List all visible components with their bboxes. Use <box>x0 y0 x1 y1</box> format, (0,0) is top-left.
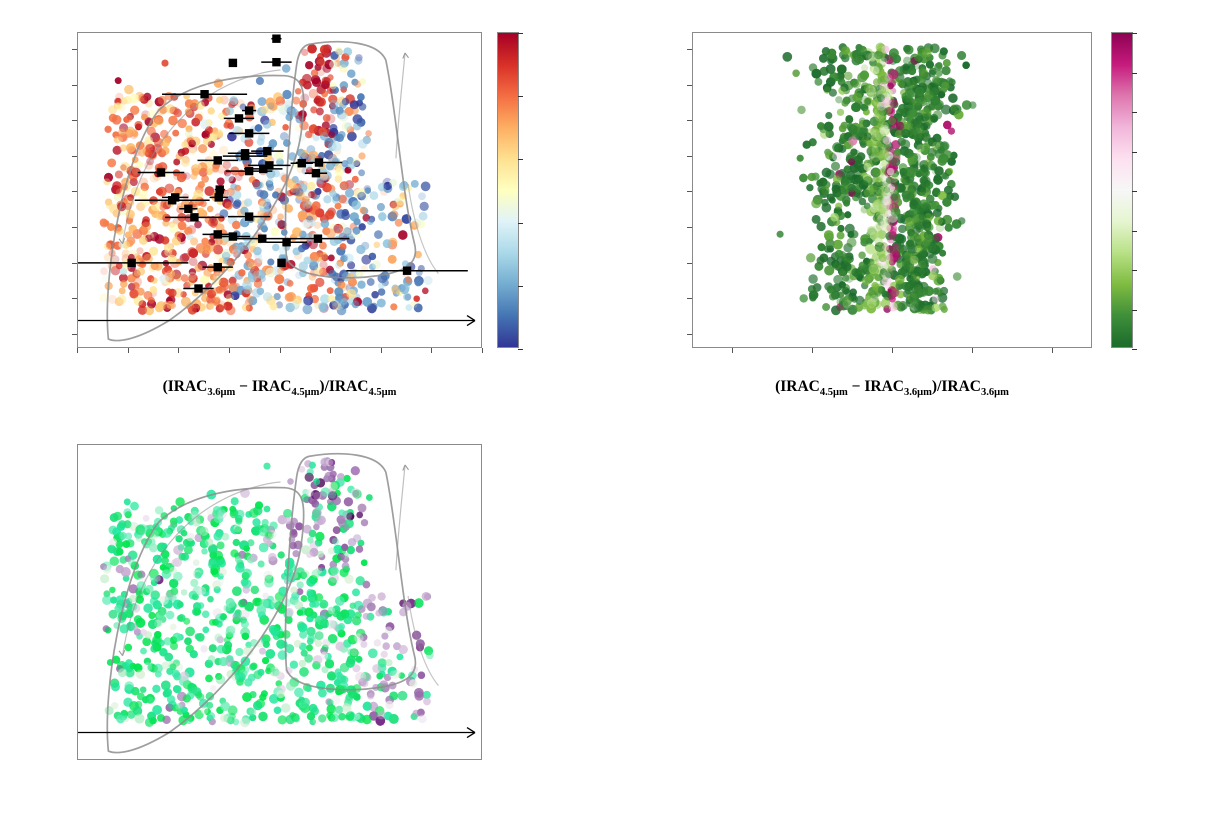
xtick-2 <box>178 348 179 353</box>
xtick-5 <box>330 348 331 353</box>
observation-marker <box>184 205 192 213</box>
scatter-layer-transmission_logg <box>693 33 1092 348</box>
observation-marker <box>235 114 243 122</box>
observation-marker <box>259 165 267 173</box>
observation-marker <box>277 259 285 267</box>
observation-marker <box>127 259 135 267</box>
colorbar-tick-5 <box>1132 152 1137 153</box>
panel-emission_feh <box>77 444 482 760</box>
observation-marker <box>263 147 271 155</box>
scatter-layer-emission_feh <box>78 445 482 760</box>
xtick-1 <box>812 348 813 353</box>
ytick-7 <box>687 85 692 86</box>
xtick-8 <box>482 348 483 353</box>
xtick-3 <box>229 348 230 353</box>
colorbar-tick-4 <box>1132 191 1137 192</box>
ytick-8 <box>72 49 77 50</box>
gj3470b-arrow <box>78 728 475 738</box>
observation-marker <box>214 156 222 164</box>
observation-marker <box>229 232 237 240</box>
colorbar-tick-6 <box>1132 112 1137 113</box>
observation-marker <box>215 193 223 201</box>
observation-marker <box>200 90 208 98</box>
observation-marker <box>403 267 411 275</box>
observation-marker <box>245 106 253 114</box>
observation-marker <box>245 212 253 220</box>
colorbar-tick-8 <box>1132 33 1137 34</box>
observation-marker <box>315 158 323 166</box>
figure-root: (IRAC3.6μm − IRAC4.5μm)/IRAC4.5μm(IRAC4.… <box>0 0 1211 825</box>
observation-marker <box>272 58 280 66</box>
ytick-6 <box>72 120 77 121</box>
observation-marker <box>258 234 266 242</box>
panel-emission_co: (IRAC3.6μm − IRAC4.5μm)/IRAC4.5μm <box>77 32 482 348</box>
ytick-5 <box>72 156 77 157</box>
ytick-1 <box>72 298 77 299</box>
colorbar-tick-4 <box>518 96 523 97</box>
observation-marker <box>216 185 224 193</box>
ytick-2 <box>72 263 77 264</box>
ytick-4 <box>687 191 692 192</box>
observation-marker <box>214 230 222 238</box>
observation-marker <box>168 196 176 204</box>
plot-frame-emission_co <box>77 32 482 348</box>
ytick-0 <box>72 334 77 335</box>
colorbar-tick-0 <box>1132 349 1137 350</box>
plot-frame-emission_feh <box>77 444 482 760</box>
observation-marker <box>312 169 320 177</box>
x-axis-label-emission_co: (IRAC3.6μm − IRAC4.5μm)/IRAC4.5μm <box>77 378 482 398</box>
colorbar-tick-2 <box>518 223 523 224</box>
observation-marker <box>245 167 253 175</box>
xtick-4 <box>280 348 281 353</box>
ytick-6 <box>687 120 692 121</box>
scatter-layer-emission_co <box>78 33 482 348</box>
xtick-0 <box>732 348 733 353</box>
xtick-4 <box>1052 348 1053 353</box>
xtick-0 <box>77 348 78 353</box>
plot-frame-transmission_logg <box>692 32 1092 348</box>
colorbar-tick-2 <box>1132 270 1137 271</box>
observation-marker <box>194 284 202 292</box>
colorbar-tick-5 <box>518 33 523 34</box>
ytick-8 <box>687 49 692 50</box>
colorbar-emission_co <box>497 32 519 348</box>
gj3470b-arrow <box>78 316 475 326</box>
ytick-1 <box>687 298 692 299</box>
colorbar-transmission_logg <box>1111 32 1133 348</box>
ytick-5 <box>687 156 692 157</box>
xtick-2 <box>892 348 893 353</box>
colorbar-tick-1 <box>518 286 523 287</box>
ytick-7 <box>72 85 77 86</box>
observation-marker <box>229 59 237 67</box>
ytick-4 <box>72 191 77 192</box>
observation-marker <box>314 234 322 242</box>
x-axis-label-transmission_logg: (IRAC4.5μm − IRAC3.6μm)/IRAC3.6μm <box>692 378 1092 398</box>
ytick-2 <box>687 263 692 264</box>
colorbar-tick-0 <box>518 349 523 350</box>
xtick-6 <box>381 348 382 353</box>
observation-marker <box>241 152 249 160</box>
xtick-1 <box>128 348 129 353</box>
colorbar-tick-7 <box>1132 73 1137 74</box>
observation-marker <box>157 168 165 176</box>
panel-transmission_logg: (IRAC4.5μm − IRAC3.6μm)/IRAC3.6μm <box>692 32 1092 348</box>
observation-marker <box>272 34 280 42</box>
ytick-3 <box>72 227 77 228</box>
colorbar-tick-3 <box>1132 231 1137 232</box>
xtick-3 <box>972 348 973 353</box>
observation-marker <box>214 263 222 271</box>
ytick-3 <box>687 227 692 228</box>
ytick-0 <box>687 334 692 335</box>
observation-marker <box>245 129 253 137</box>
colorbar-tick-3 <box>518 159 523 160</box>
observation-marker <box>190 213 198 221</box>
xtick-7 <box>431 348 432 353</box>
colorbar-tick-1 <box>1132 310 1137 311</box>
